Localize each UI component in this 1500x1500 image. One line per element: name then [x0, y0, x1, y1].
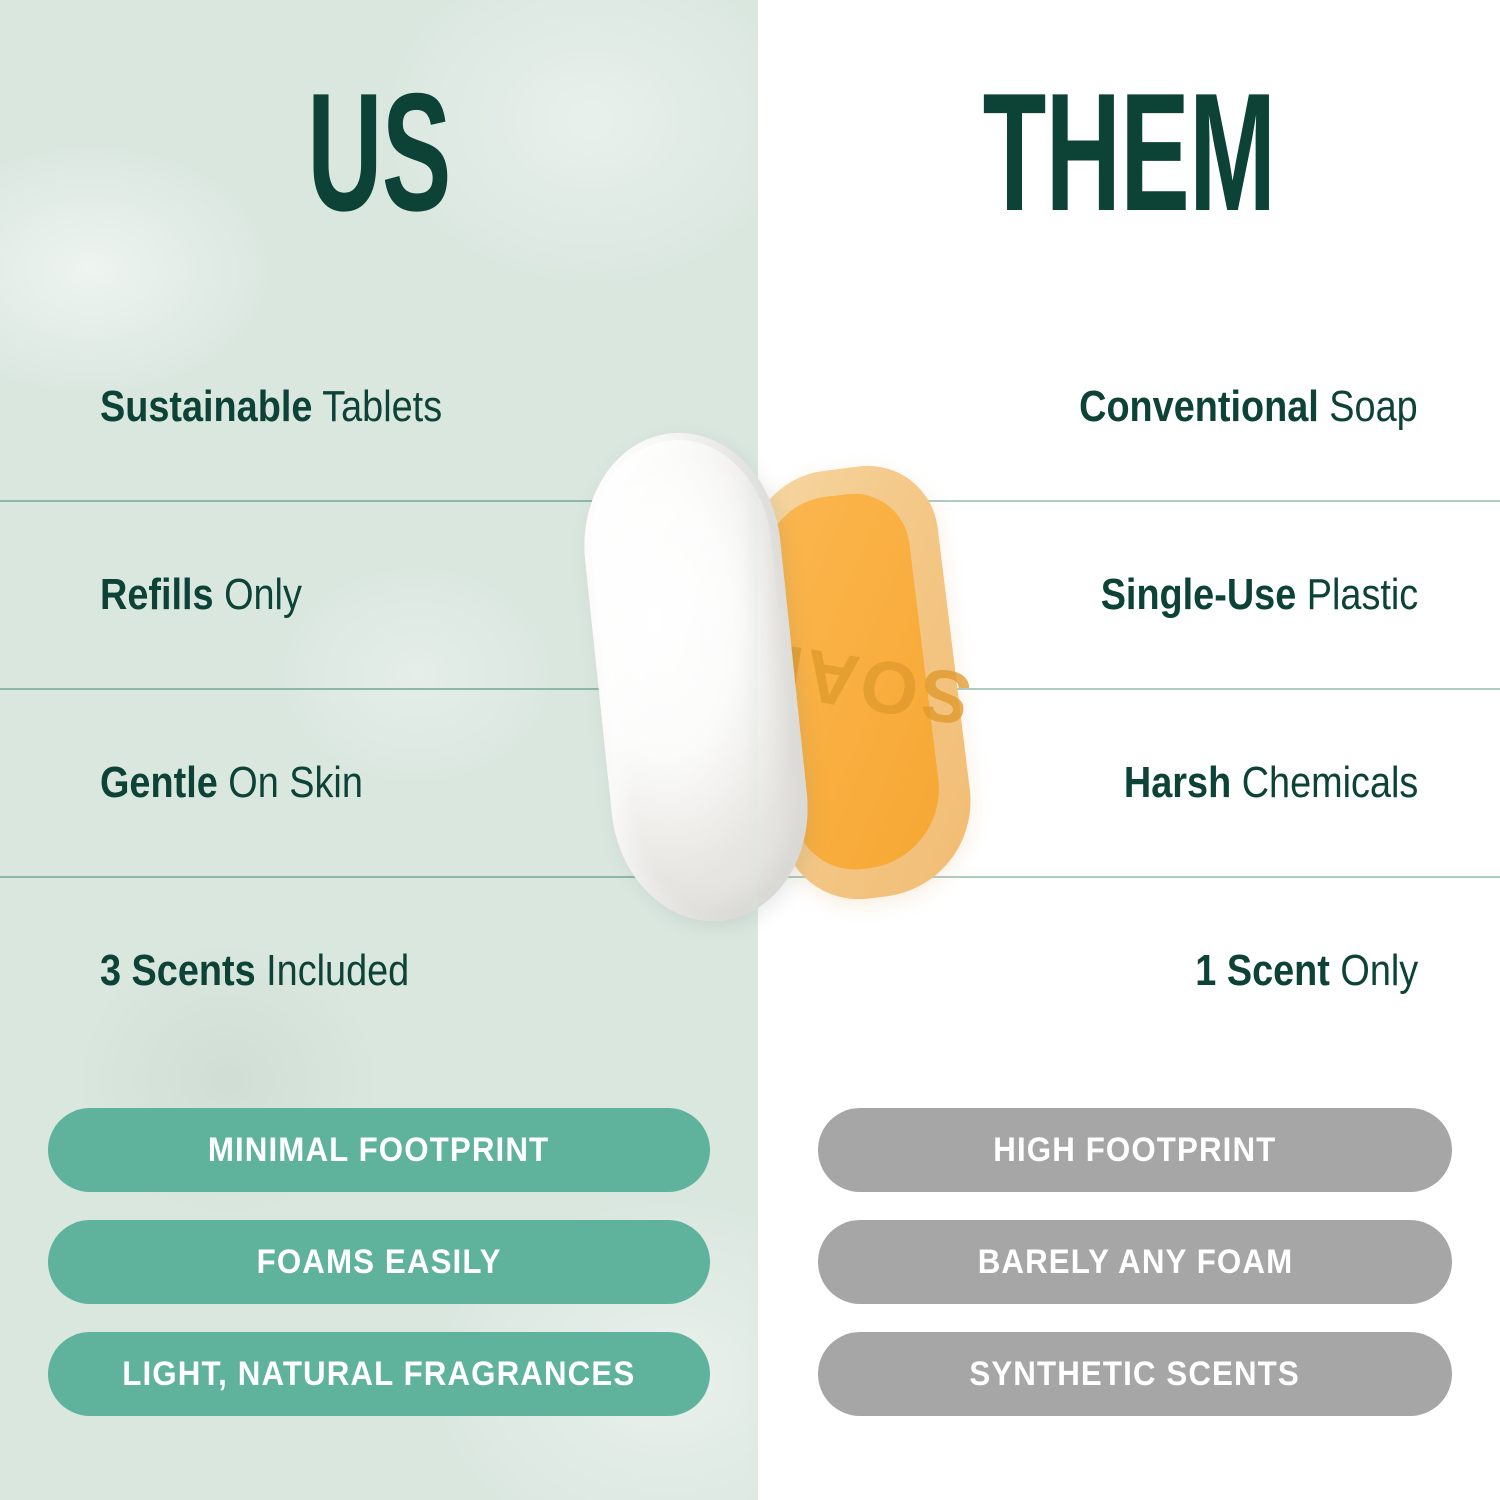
row-label-light: Soap — [1319, 382, 1418, 431]
pill-high-footprint[interactable]: HIGH FOOTPRINT — [818, 1108, 1452, 1192]
pill-label: FOAMS EASILY — [256, 1243, 501, 1282]
pill-synthetic-scents[interactable]: SYNTHETIC SCENTS — [818, 1332, 1452, 1416]
pill-foams-easily[interactable]: FOAMS EASILY — [48, 1220, 710, 1304]
pill-label: LIGHT, NATURAL FRAGRANCES — [122, 1355, 635, 1394]
row-label-strong: Sustainable — [100, 382, 312, 431]
pill-group-them: HIGH FOOTPRINT BARELY ANY FOAM SYNTHETIC… — [818, 1108, 1452, 1444]
row-label-light: Included — [256, 946, 410, 995]
table-row: Single-Use Plastic — [758, 501, 1500, 689]
pill-light-natural-fragrances[interactable]: LIGHT, NATURAL FRAGRANCES — [48, 1332, 710, 1416]
table-row: 3 Scents Included — [0, 877, 758, 1065]
pill-minimal-footprint[interactable]: MINIMAL FOOTPRINT — [48, 1108, 710, 1192]
table-row: Sustainable Tablets — [0, 313, 758, 501]
row-label-strong: Harsh — [1124, 758, 1231, 807]
row-label-light: On Skin — [218, 758, 363, 807]
row-label-light: Only — [214, 570, 302, 619]
row-label-strong: Conventional — [1079, 382, 1319, 431]
row-label-strong: 1 Scent — [1195, 946, 1330, 995]
row-label-strong: Refills — [100, 570, 214, 619]
row-label-light: Only — [1330, 946, 1418, 995]
table-row: 1 Scent Only — [758, 877, 1500, 1065]
row-label-light: Chemicals — [1231, 758, 1418, 807]
row-label-light: Plastic — [1296, 570, 1418, 619]
table-row: Gentle On Skin — [0, 689, 758, 877]
pill-label: BARELY ANY FOAM — [977, 1243, 1293, 1282]
table-row: Refills Only — [0, 501, 758, 689]
pill-barely-any-foam[interactable]: BARELY ANY FOAM — [818, 1220, 1452, 1304]
pill-label: HIGH FOOTPRINT — [993, 1131, 1276, 1170]
row-label-strong: Gentle — [100, 758, 218, 807]
row-label-strong: Single-Use — [1100, 570, 1296, 619]
table-row: Harsh Chemicals — [758, 689, 1500, 877]
row-label-strong: 3 Scents — [100, 946, 256, 995]
row-label-light: Tablets — [312, 382, 442, 431]
comparison-infographic: US THEM SOAP Sustainable Tablets Convent… — [0, 0, 1500, 1500]
table-row: Conventional Soap — [758, 313, 1500, 501]
pill-label: MINIMAL FOOTPRINT — [208, 1131, 549, 1170]
pill-group-us: MINIMAL FOOTPRINT FOAMS EASILY LIGHT, NA… — [48, 1108, 710, 1444]
pill-label: SYNTHETIC SCENTS — [970, 1355, 1300, 1394]
